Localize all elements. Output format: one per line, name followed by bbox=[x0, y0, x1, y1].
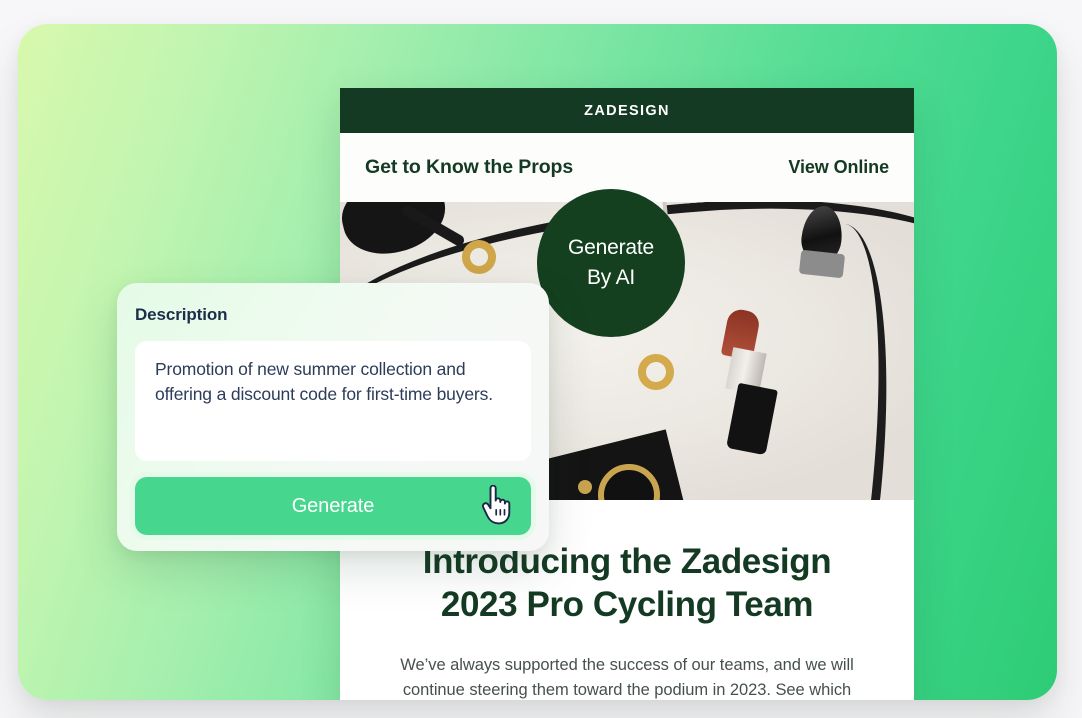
description-label: Description bbox=[135, 305, 531, 325]
pouch-stud-shape bbox=[578, 480, 592, 494]
generate-button[interactable]: Generate bbox=[135, 477, 531, 535]
ai-badge-line-1: Generate bbox=[568, 233, 654, 263]
email-subheader-title: Get to Know the Props bbox=[365, 156, 573, 179]
email-brand-bar: ZADESIGN bbox=[340, 88, 914, 133]
gradient-canvas: ZADESIGN Get to Know the Props View Onli… bbox=[18, 24, 1057, 700]
description-panel: Description Promotion of new summer coll… bbox=[117, 283, 549, 551]
pointing-hand-cursor-icon bbox=[479, 485, 513, 525]
brand-name: ZADESIGN bbox=[584, 103, 670, 119]
generate-by-ai-badge[interactable]: Generate By AI bbox=[537, 189, 685, 337]
email-heading-line-2: 2023 Pro Cycling Team bbox=[386, 583, 868, 626]
email-paragraph: We’ve always supported the success of ou… bbox=[386, 653, 868, 700]
description-input-value: Promotion of new summer collection and o… bbox=[155, 357, 511, 406]
description-input[interactable]: Promotion of new summer collection and o… bbox=[135, 341, 531, 461]
generate-button-label: Generate bbox=[292, 495, 375, 518]
view-online-link[interactable]: View Online bbox=[788, 157, 889, 178]
perfume-base-shape bbox=[799, 250, 845, 278]
gold-ring-shape bbox=[636, 352, 677, 393]
ai-badge-line-2: By AI bbox=[587, 263, 635, 293]
email-heading: Introducing the Zadesign 2023 Pro Cyclin… bbox=[386, 540, 868, 627]
